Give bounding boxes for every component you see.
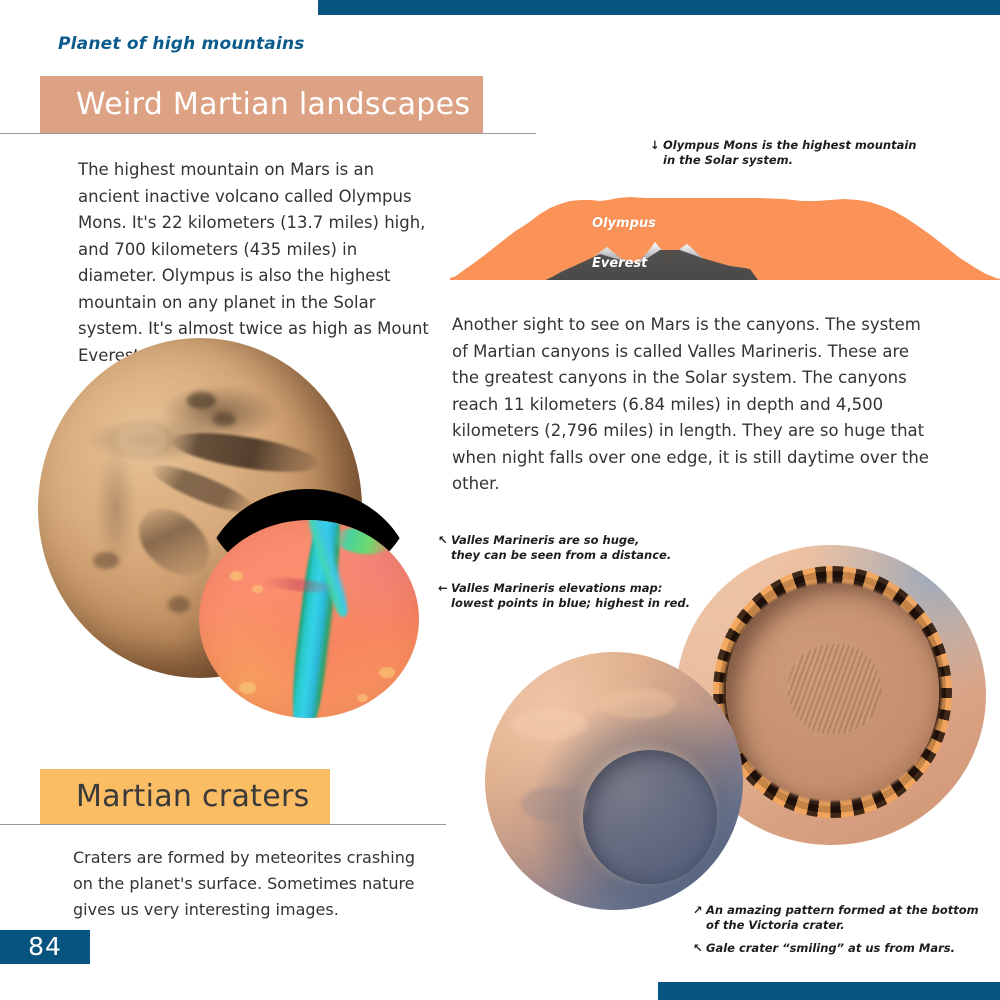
caption-olympus-line1: Olympus Mons is the highest mountain [663,138,916,152]
label-olympus: Olympus [592,216,656,231]
arrow-down-icon: ↓ [650,138,663,153]
elevation-map-disc [199,520,419,718]
caption-olympus-mons: ↓Olympus Mons is the highest mountain in… [650,138,950,168]
olympus-everest-profile-diagram: Olympus Everest [450,168,1000,280]
heading-craters-label: Martian craters [40,779,310,814]
crater-pit [252,585,263,593]
heading-craters: Martian craters [40,769,330,824]
paragraph-canyons: Another sight to see on Mars is the cany… [452,312,932,498]
gale-terrain-texture [599,688,676,719]
caption-valles-elevation-line2: lowest points in blue; highest in red. [438,596,698,611]
magazine-page: Planet of high mountains Weird Martian l… [0,0,1000,1000]
crater-pit [393,686,406,696]
label-everest: Everest [592,256,647,271]
caption-valles-distance: ↖Valles Marineris are so huge, they can … [438,533,688,563]
caption-valles-elevation: ←Valles Marineris elevations map: lowest… [438,581,698,611]
gale-crater-basin [583,750,717,884]
heading-landscapes: Weird Martian landscapes [40,76,483,133]
paragraph-craters: Craters are formed by meteorites crashin… [73,845,423,923]
crater-pit [239,682,257,694]
caption-valles-distance-line2: they can be seen from a distance. [438,548,688,563]
caption-victoria-crater: ↗An amazing pattern formed at the bottom… [693,903,993,933]
caption-valles-distance-line1: Valles Marineris are so huge, [451,533,639,547]
heading-craters-rule [0,824,446,825]
page-number-label: 84 [0,930,90,964]
crater-pit [230,571,243,581]
caption-victoria-line1: An amazing pattern formed at the bottom [706,903,979,917]
gale-crater-disc [485,652,743,910]
heading-landscapes-label: Weird Martian landscapes [40,87,470,122]
mars-dark-patch [168,596,191,613]
gale-terrain-texture [521,786,588,822]
caption-olympus-line2: in the Solar system. [650,153,950,168]
bottom-accent-bar [658,982,1000,1000]
arrow-left-icon: ← [438,581,451,596]
mars-dark-patch [187,392,216,409]
gale-crater-image [485,652,743,910]
crater-pit [379,667,394,679]
mars-dark-patch [93,552,119,569]
profile-svg [450,168,1000,280]
caption-gale-crater: ↖Gale crater “smiling” at us from Mars. [693,941,993,956]
caption-valles-elevation-line1: Valles Marineris elevations map: [451,581,662,595]
page-number-badge: 84 [0,930,90,964]
section-kicker: Planet of high mountains [58,34,305,54]
top-accent-bar [318,0,1000,15]
mars-dark-patch [213,413,236,427]
gale-terrain-texture [511,709,588,740]
caption-gale-line1: Gale crater “smiling” at us from Mars. [706,941,955,955]
valles-marineris-elevation-map-image [199,498,419,718]
arrow-up-right-icon: ↗ [693,903,706,918]
arrow-up-left-icon: ↖ [438,533,451,548]
mars-bright-region [116,426,168,453]
crater-pit [357,694,368,702]
caption-victoria-line2: of the Victoria crater. [693,918,993,933]
arrow-up-left-icon: ↖ [693,941,706,956]
heading-landscapes-rule [0,133,536,134]
